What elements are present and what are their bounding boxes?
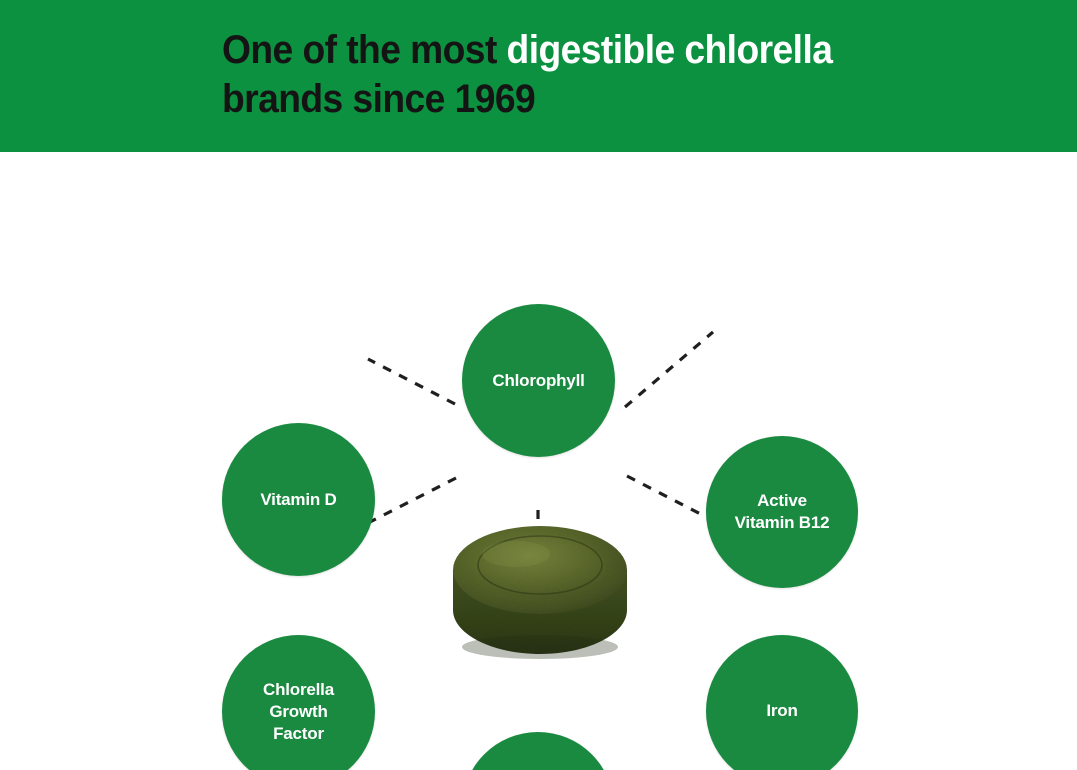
infographic-canvas: One of the most digestible chlorellabran… [0, 0, 1077, 770]
bubble-chlorophyll[interactable]: Chlorophyll [462, 304, 615, 457]
bubble-iron[interactable]: Iron [706, 635, 858, 770]
nutrient-diagram: Chlorophyll Active Vitamin B12 Iron Vita… [0, 152, 1077, 770]
connector-chlorella-growth-factor [368, 478, 456, 523]
connector-iron [627, 476, 716, 522]
chlorella-tablet-illustration [450, 522, 630, 668]
page-title-part-dark-2: brands since 1969 [222, 77, 535, 121]
page-title-part-dark-1: One of the most [222, 28, 507, 72]
connector-active-vitamin-b12 [625, 332, 713, 407]
bubble-active-vitamin-b12[interactable]: Active Vitamin B12 [706, 436, 858, 588]
connector-vitamin-d [368, 359, 455, 404]
chlorella-tablet [450, 522, 630, 668]
page-title-part-light: digestible chlorella [507, 28, 833, 72]
header-banner: One of the most digestible chlorellabran… [0, 0, 1077, 152]
bubble-vitamin-a[interactable]: Vitamin A [462, 732, 614, 770]
tablet-highlight [482, 541, 550, 567]
page-title: One of the most digestible chlorellabran… [222, 26, 892, 124]
bubble-vitamin-d[interactable]: Vitamin D [222, 423, 375, 576]
bubble-chlorella-growth-factor[interactable]: Chlorella Growth Factor [222, 635, 375, 770]
tablet-shadow [462, 635, 618, 659]
